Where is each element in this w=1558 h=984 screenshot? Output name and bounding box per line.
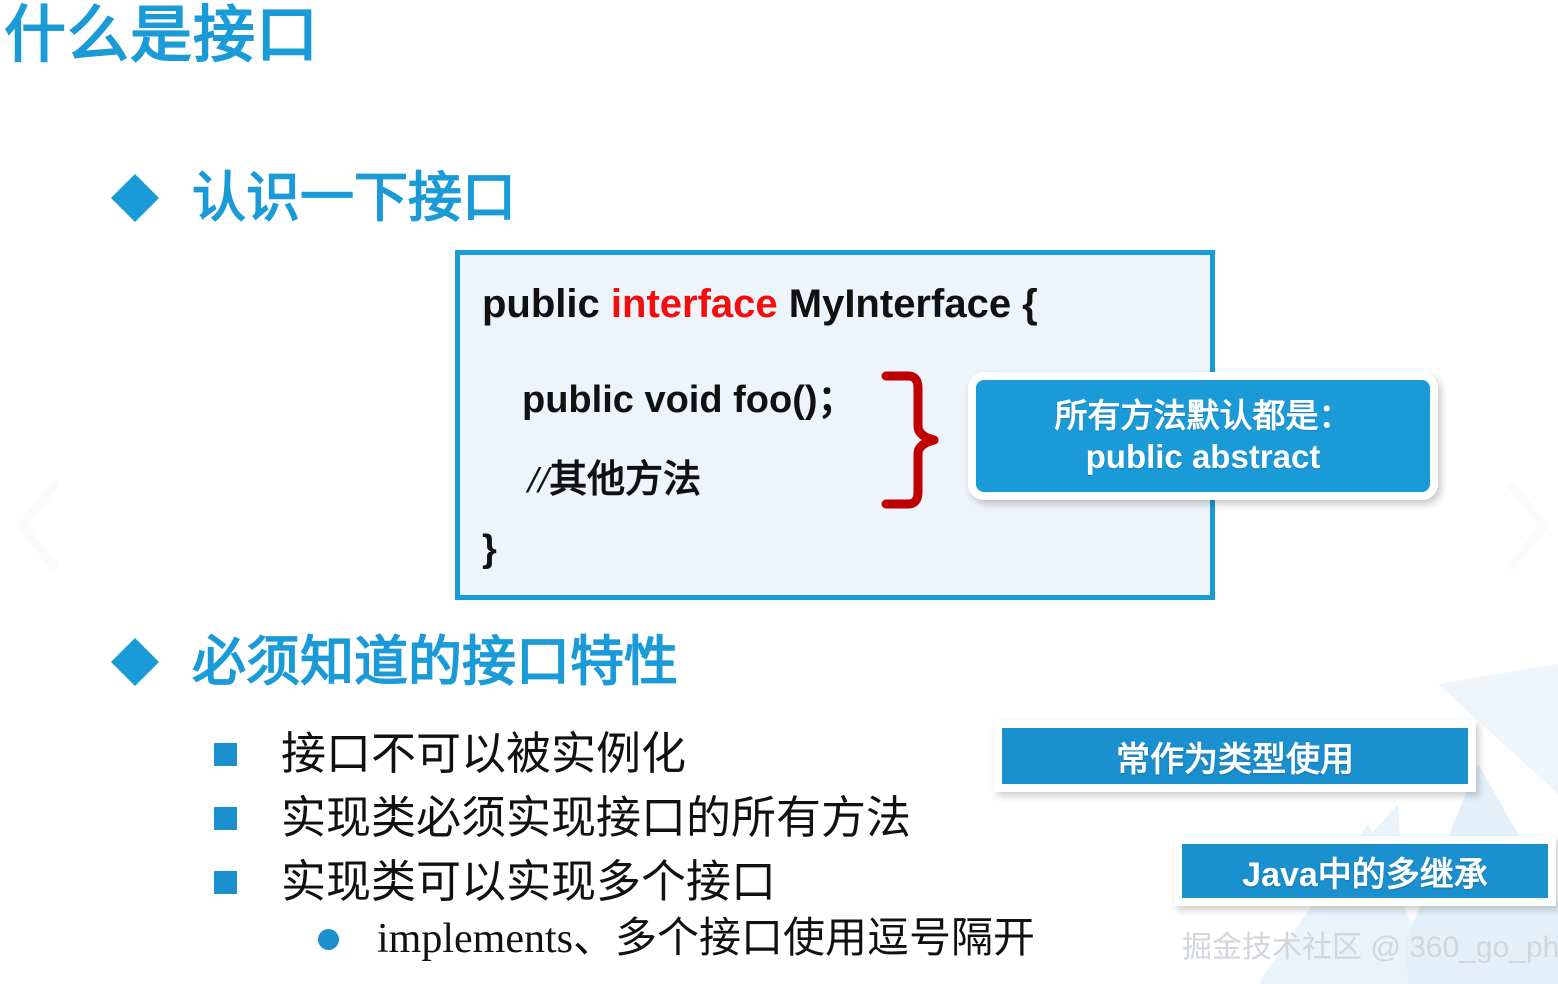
code-line-declaration: public interface MyInterface {	[482, 282, 1038, 327]
callout-line-1: 所有方法默认都是：	[1055, 395, 1352, 436]
square-bullet-icon	[214, 807, 237, 830]
list-item: 实现类可以实现多个接口	[214, 850, 911, 914]
callout-line-2: public abstract	[1086, 436, 1321, 477]
section-heading-2: 必须知道的接口特性	[118, 634, 678, 691]
sub-list-item-label: implements、多个接口使用逗号隔开	[377, 918, 1035, 960]
section-heading-1: 认识一下接口	[118, 170, 516, 227]
section-heading-2-label: 必须知道的接口特性	[192, 634, 678, 691]
square-bullet-icon	[214, 743, 237, 766]
code-line-method: public void foo()；	[522, 368, 856, 423]
chevron-left-icon[interactable]	[10, 478, 70, 574]
code-line-closing-brace: }	[482, 528, 497, 571]
feature-list: 接口不可以被实例化 实现类必须实现接口的所有方法 实现类可以实现多个接口	[214, 722, 911, 914]
section-heading-1-label: 认识一下接口	[192, 170, 516, 227]
list-item-label: 实现类必须实现接口的所有方法	[281, 796, 911, 841]
tag-banner-label: Java中的多继承	[1242, 847, 1488, 896]
code-token-classname: MyInterface {	[778, 282, 1038, 326]
square-bullet-icon	[214, 871, 237, 894]
callout-box: 所有方法默认都是： public abstract	[968, 372, 1438, 500]
list-item: 接口不可以被实例化	[214, 722, 911, 786]
list-item-label: 实现类可以实现多个接口	[281, 860, 776, 905]
code-token-interface-keyword: interface	[611, 282, 778, 326]
list-item-label: 接口不可以被实例化	[281, 732, 686, 777]
comment-slashes: //	[528, 459, 549, 501]
diamond-bullet-icon	[111, 638, 159, 686]
tag-banner-label: 常作为类型使用	[1116, 732, 1354, 781]
code-token-public: public	[482, 282, 611, 326]
watermark: 掘金技术社区 @ 360_go_php	[1182, 922, 1558, 966]
tag-banner-multiple-inheritance: Java中的多继承	[1174, 836, 1556, 906]
list-item: 实现类必须实现接口的所有方法	[214, 786, 911, 850]
code-line-comment: //其他方法	[528, 448, 701, 503]
round-bullet-icon	[318, 929, 339, 950]
comment-text: 其他方法	[549, 459, 701, 501]
chevron-right-icon[interactable]	[1496, 478, 1556, 574]
slide-canvas: 什么是接口 认识一下接口 public interface MyInterfac…	[0, 0, 1558, 984]
page-title: 什么是接口	[4, 2, 319, 70]
diamond-bullet-icon	[111, 174, 159, 222]
tag-banner-type-usage: 常作为类型使用	[994, 720, 1476, 792]
sub-list-item: implements、多个接口使用逗号隔开	[318, 918, 1035, 960]
